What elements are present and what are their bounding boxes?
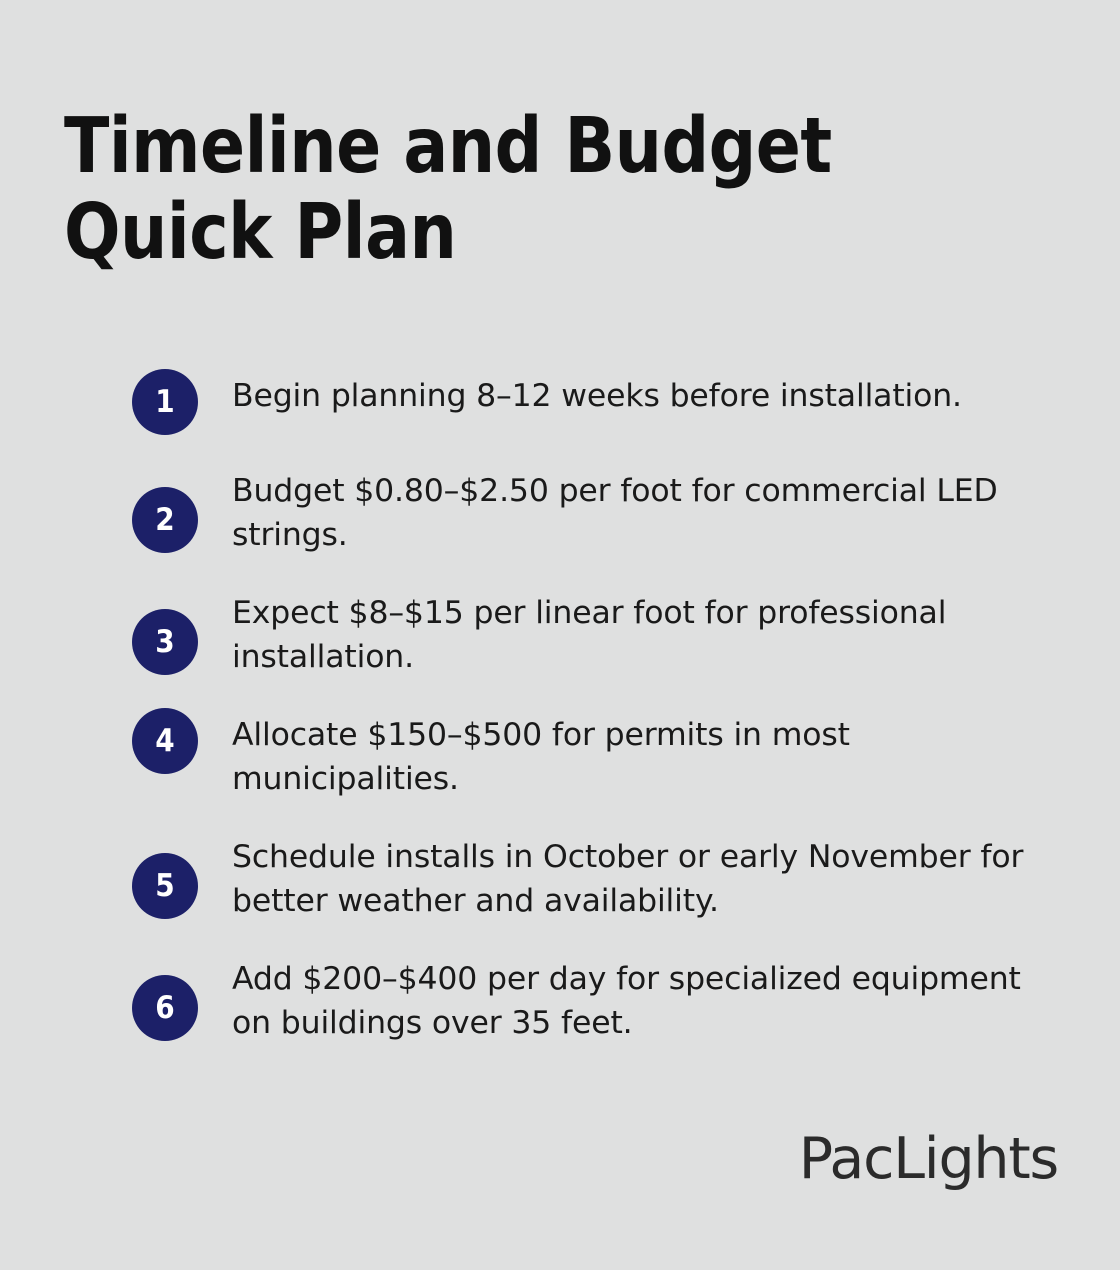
step-text: Add $200–$400 per day for specialized eq… (232, 949, 1044, 1045)
step-number-badge: 2 (132, 487, 198, 553)
step-number-badge: 3 (132, 609, 198, 675)
list-item: 2 Budget $0.80–$2.50 per foot for commer… (132, 461, 1062, 557)
list-item: 3 Expect $8–$15 per linear foot for prof… (132, 583, 1062, 679)
step-number-badge: 6 (132, 975, 198, 1041)
list-item: 4 Allocate $150–$500 for permits in most… (132, 705, 1062, 801)
step-text: Begin planning 8–12 weeks before install… (232, 366, 962, 418)
infographic-poster: Timeline and Budget Quick Plan 1 Begin p… (0, 0, 1120, 1270)
page-title: Timeline and Budget Quick Plan (64, 104, 928, 276)
list-item: 1 Begin planning 8–12 weeks before insta… (132, 366, 1062, 435)
step-text: Budget $0.80–$2.50 per foot for commerci… (232, 461, 1044, 557)
step-number-badge: 4 (132, 708, 198, 774)
step-number-badge: 1 (132, 369, 198, 435)
paclights-logo: PacLights (799, 1131, 1058, 1188)
step-text: Expect $8–$15 per linear foot for profes… (232, 583, 1044, 679)
step-text: Allocate $150–$500 for permits in most m… (232, 705, 1044, 801)
list-item: 6 Add $200–$400 per day for specialized … (132, 949, 1062, 1045)
steps-list: 1 Begin planning 8–12 weeks before insta… (132, 366, 1062, 1045)
step-text: Schedule installs in October or early No… (232, 827, 1044, 923)
list-item: 5 Schedule installs in October or early … (132, 827, 1062, 923)
step-number-badge: 5 (132, 853, 198, 919)
